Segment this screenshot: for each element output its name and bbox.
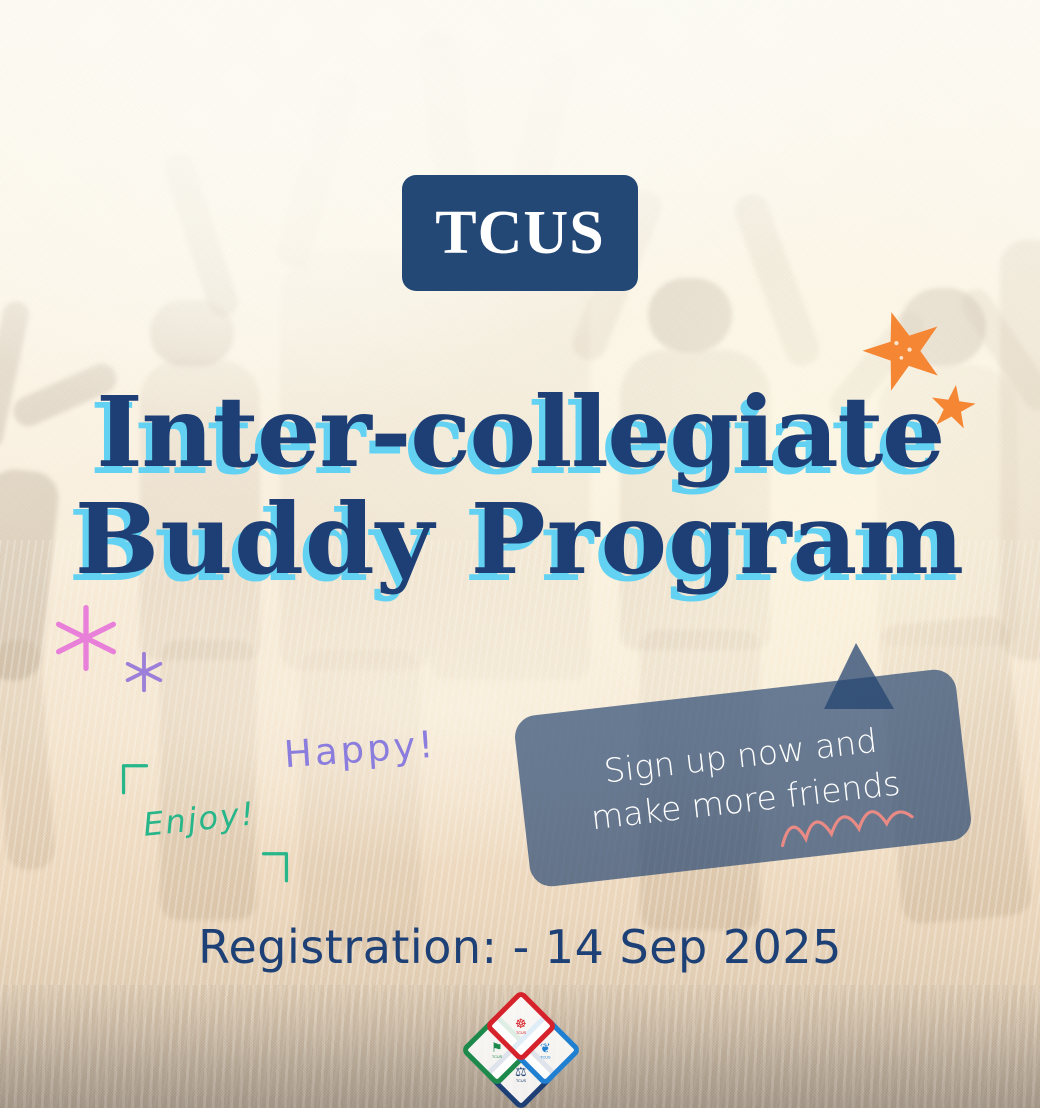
corner-bracket-top-left-icon (118, 760, 152, 796)
star-doodle-purple-icon (120, 648, 168, 696)
corner-bracket-bottom-right-icon (258, 848, 292, 884)
tcus-badge-label: TCUS (435, 202, 604, 264)
logo-red-crest: ☸ TCUS (515, 1017, 527, 1035)
title-line-1: Inter-collegiate (0, 385, 1040, 480)
logo-blue-caption: TCUS (540, 1055, 550, 1059)
logo-red-mark: ☸ (515, 1017, 527, 1030)
logo-blue-mark: ❦ (540, 1041, 551, 1054)
logo-green-caption: TCUS (492, 1055, 502, 1059)
starfish-small-icon (930, 382, 976, 430)
registration-date: Registration: - 14 Sep 2025 (0, 920, 1040, 974)
page-title: Inter-collegiate Buddy Program (0, 385, 1040, 587)
starfish-large-icon (862, 305, 944, 391)
logo-blue-crest: ❦ TCUS (540, 1041, 551, 1059)
star-doodle-pink-icon (48, 600, 124, 676)
logo-navy-caption: TCUS (516, 1079, 526, 1083)
title-line-2: Buddy Program (0, 492, 1040, 587)
poster-canvas: TCUS Inter-collegiate Buddy Program (0, 0, 1040, 1108)
partner-logo-cluster: ☸ TCUS ⚑ TCUS ❦ TCUS ⚖ TCUS (471, 1000, 571, 1100)
tcus-badge: TCUS (402, 175, 638, 291)
logo-red-caption: TCUS (516, 1031, 526, 1035)
